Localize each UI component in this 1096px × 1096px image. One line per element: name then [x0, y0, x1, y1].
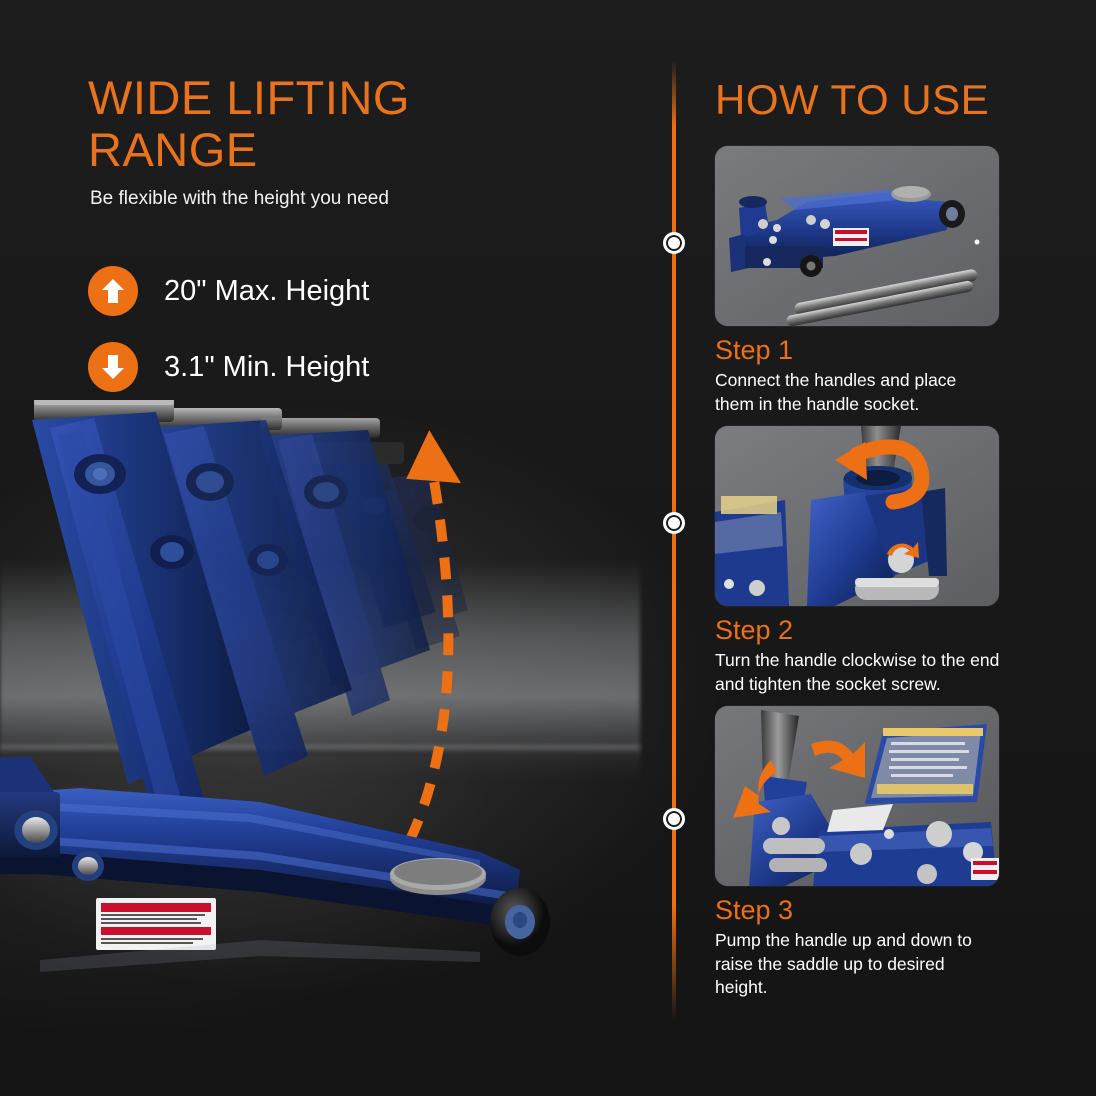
headline-line-1: WIDE LIFTING: [88, 72, 558, 124]
infographic-canvas: WIDE LIFTING RANGE Be flexible with the …: [0, 0, 1096, 1096]
left-panel: WIDE LIFTING RANGE Be flexible with the …: [0, 0, 660, 1096]
step-2-label: Step 2: [715, 615, 1000, 646]
headline-line-2: RANGE: [88, 124, 558, 176]
step-2-image: [715, 426, 999, 606]
timeline-divider: [668, 60, 680, 1020]
timeline-dot-1: [663, 232, 685, 254]
step-3-image: [715, 706, 999, 886]
spec-label-max-height: 20" Max. Height: [164, 275, 369, 308]
step-1-label: Step 1: [715, 335, 1000, 366]
arrow-down-icon: [88, 342, 138, 392]
step-2-description: Turn the handle clockwise to the end and…: [715, 649, 1000, 696]
spec-label-min-height: 3.1" Min. Height: [164, 351, 369, 384]
spec-row-min-height: 3.1" Min. Height: [88, 342, 369, 392]
right-panel: HOW TO USE: [700, 0, 1096, 1096]
timeline-dot-3: [663, 808, 685, 830]
step-3: Step 3 Pump the handle up and down to ra…: [715, 706, 1000, 1000]
step-3-description: Pump the handle up and down to raise the…: [715, 929, 1000, 1000]
arrow-up-icon: [88, 266, 138, 316]
step-1-description: Connect the handles and place them in th…: [715, 369, 1000, 416]
foot-pedal: [390, 858, 486, 895]
step-1: Step 1 Connect the handles and place the…: [715, 146, 1000, 416]
warning-label: [96, 898, 216, 950]
timeline-line: [672, 60, 676, 1020]
subtitle: Be flexible with the height you need: [90, 188, 570, 210]
how-to-use-title: HOW TO USE: [715, 76, 989, 124]
spec-row-max-height: 20" Max. Height: [88, 266, 369, 316]
page-title: WIDE LIFTING RANGE: [88, 72, 558, 175]
rear-wheel: [490, 888, 550, 956]
product-illustration-floor-jack: [0, 400, 620, 1020]
step-3-label: Step 3: [715, 895, 1000, 926]
step-2: Step 2 Turn the handle clockwise to the …: [715, 426, 1000, 696]
spec-list: 20" Max. Height 3.1" Min. Height: [88, 266, 369, 418]
timeline-dot-2: [663, 512, 685, 534]
step-1-image: [715, 146, 999, 326]
